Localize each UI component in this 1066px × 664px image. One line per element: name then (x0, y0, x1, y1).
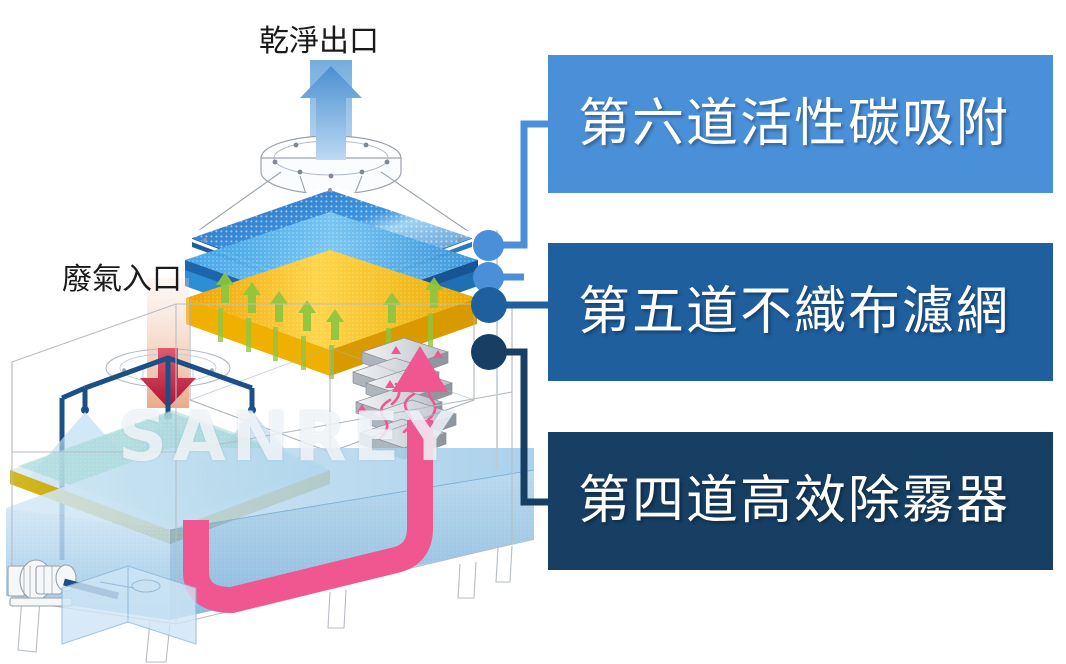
callout-label-stage-6[interactable]: 第六道活性碳吸附 (548, 55, 1053, 193)
stage-demister-baffles (353, 338, 456, 459)
callout-dot-stage-4[interactable] (471, 334, 507, 370)
callout-dot-stage-6-a[interactable] (473, 230, 504, 261)
callout-dot-stage-5[interactable] (471, 287, 507, 323)
callout-label-stage-4-text: 第四道高效除霧器 (578, 475, 1010, 527)
callout-label-stage-5-text: 第五道不織布濾網 (578, 286, 1010, 338)
diagram-canvas: SANREY 乾淨出口 廢氣入口 第六道活性碳吸附 第五道不織布濾網 第四道高效… (0, 0, 1066, 664)
callout-label-stage-4[interactable]: 第四道高效除霧器 (548, 432, 1053, 570)
outlet-label: 乾淨出口 (259, 16, 379, 60)
equipment-illustration (0, 0, 540, 664)
inlet-label: 廢氣入口 (62, 254, 182, 298)
callout-label-stage-6-text: 第六道活性碳吸附 (578, 98, 1010, 150)
callout-label-stage-5[interactable]: 第五道不織布濾網 (548, 243, 1053, 381)
